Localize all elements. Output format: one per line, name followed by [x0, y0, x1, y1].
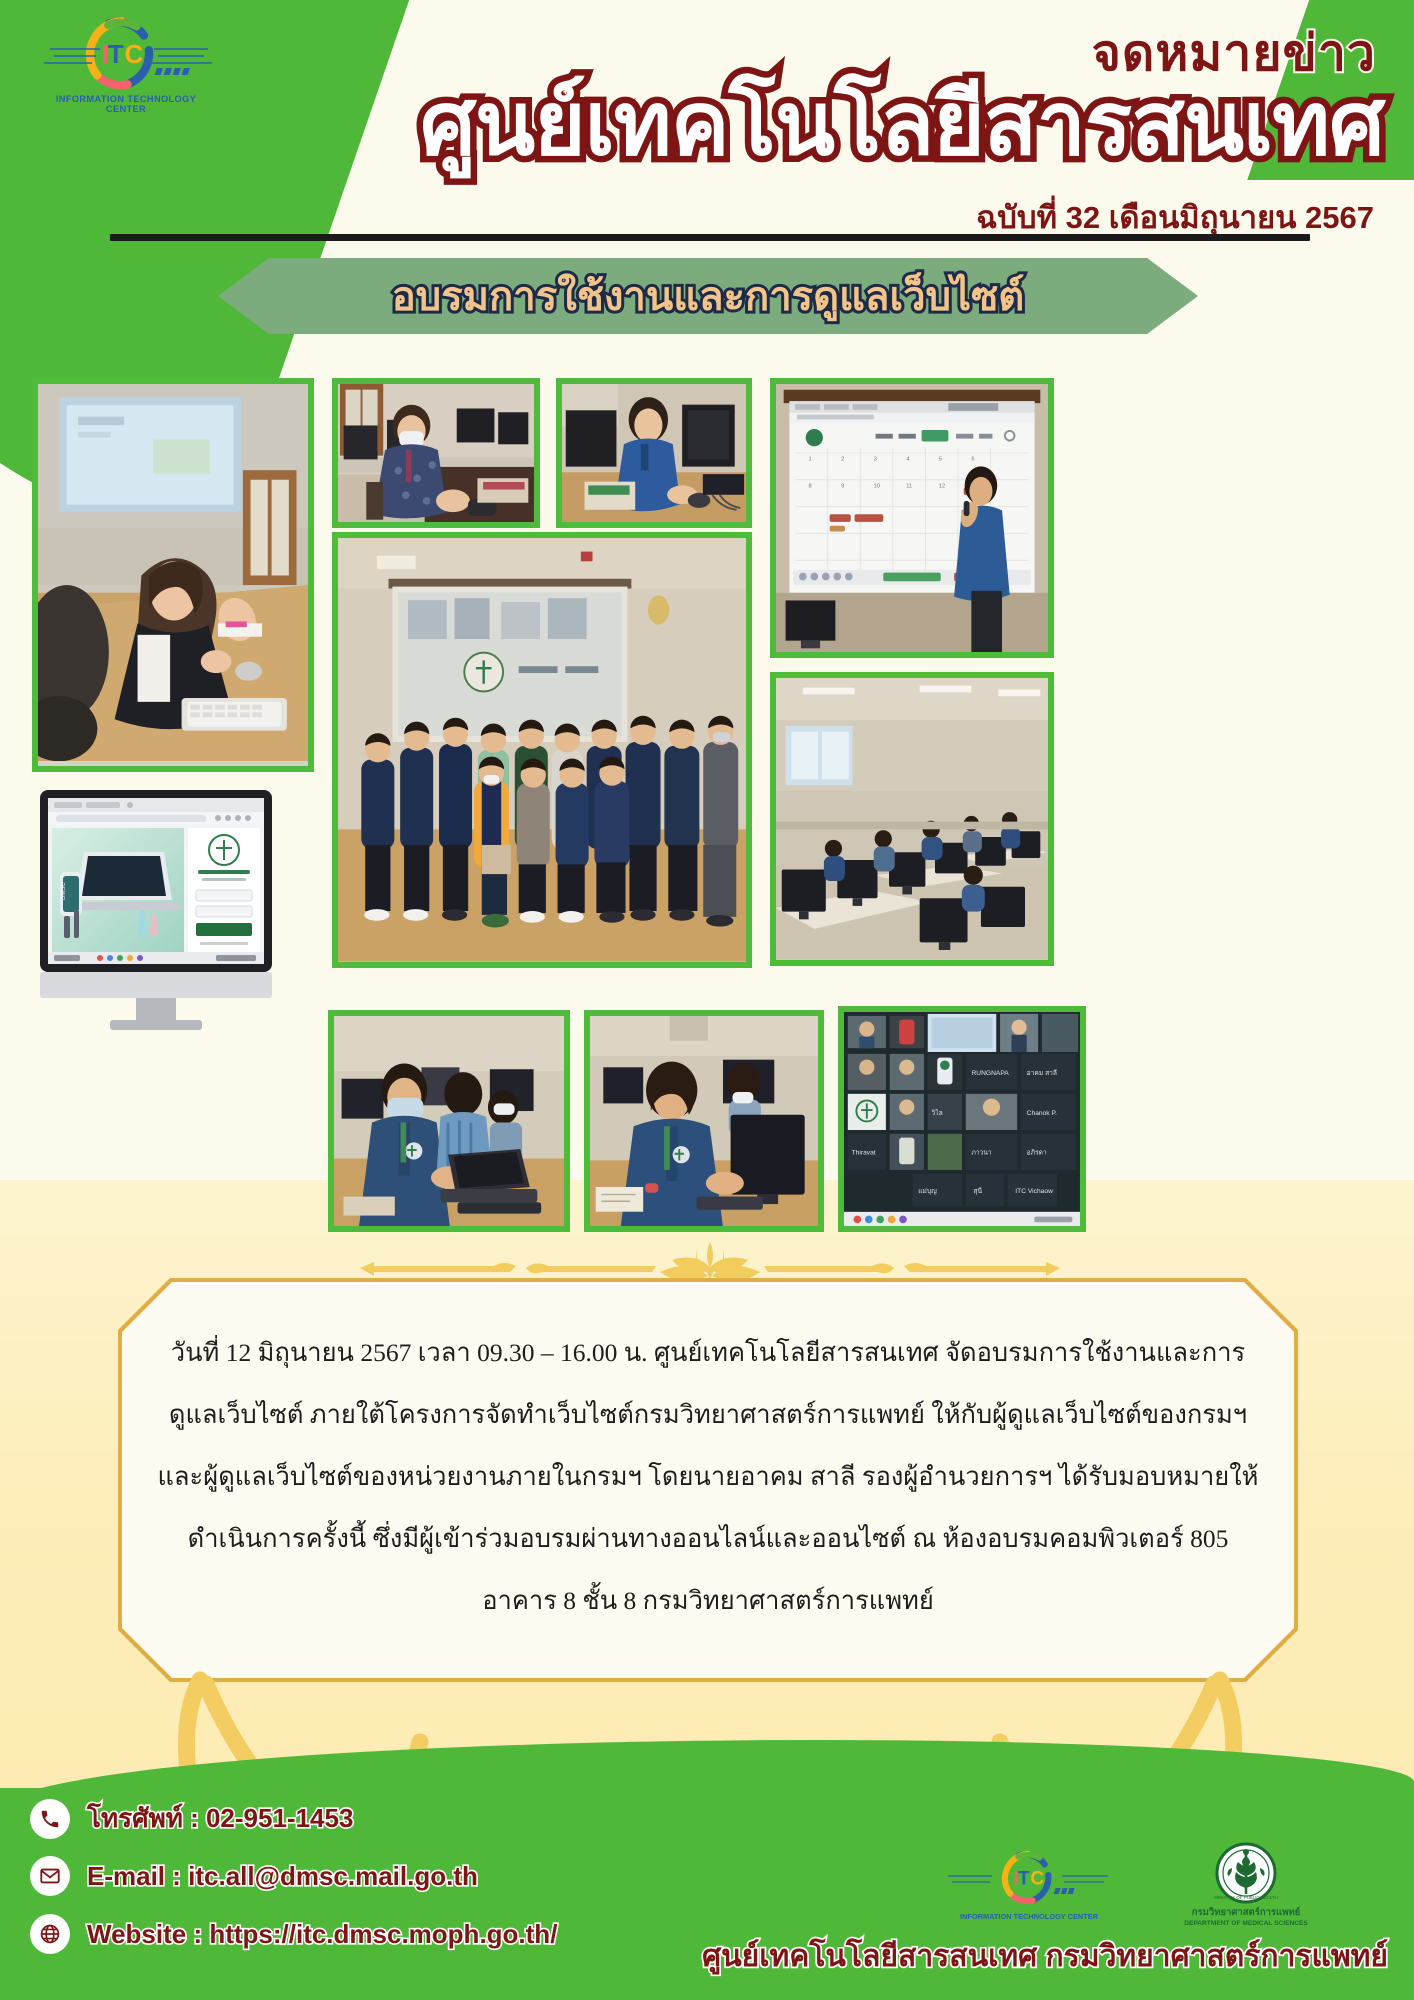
photo-speaker-screen: 123 456 8910 111213 [770, 378, 1054, 658]
svg-text:1: 1 [809, 457, 812, 463]
svg-text:RUNGNAPA: RUNGNAPA [972, 1070, 1010, 1077]
svg-text:6: 6 [971, 457, 974, 463]
itc-logo-label: INFORMATION TECHNOLOGY CENTER [36, 94, 216, 114]
photo-trainee-mask-image [338, 384, 534, 525]
photo-trainee-man-mask [328, 1010, 570, 1232]
photo-computer-room [770, 672, 1054, 966]
contact-phone-text: โทรศัพท์ : 02-951-1453 [87, 1798, 353, 1839]
footer-itc-ring-icon: I T C [944, 1850, 1114, 1914]
svg-text:MINISTRY OF PUBLIC HEALTH: MINISTRY OF PUBLIC HEALTH [1214, 1895, 1277, 1900]
svg-text:3: 3 [874, 457, 877, 463]
dmsc-emblem-icon: MINISTRY OF PUBLIC HEALTH [1206, 1842, 1286, 1904]
svg-text:T: T [1018, 1869, 1030, 1890]
globe-icon [30, 1914, 70, 1954]
svg-text:DMSC: DMSC [61, 882, 67, 900]
photo-trainee-woman-pc [584, 1010, 824, 1232]
svg-text:Chanok P.: Chanok P. [1027, 1110, 1057, 1117]
svg-text:วิไล: วิไล [931, 1109, 942, 1117]
footer-dmsc-label-en: DEPARTMENT OF MEDICAL SCIENCES [1166, 1920, 1326, 1927]
photo-presenter-woman-image [38, 384, 308, 761]
svg-text:Thiravat: Thiravat [852, 1150, 876, 1157]
itc-circuit-lines-icon [36, 40, 216, 82]
svg-text:ภาวนา: ภาวนา [972, 1150, 992, 1157]
photo-speaker-screen-image: 123 456 8910 111213 [776, 384, 1048, 652]
phone-icon [30, 1799, 70, 1839]
contact-email-text: E-mail : itc.all@dmsc.mail.go.th [87, 1861, 478, 1892]
svg-text:อภิรดา: อภิรดา [1027, 1149, 1047, 1157]
photo-trainee-mask [332, 378, 540, 528]
newsletter-poster: I T C INFORMATION TECHNOLOGY CENTER จดหม… [0, 0, 1414, 2000]
photo-presenter-woman [32, 378, 314, 772]
svg-text:แม่บุญ: แม่บุญ [918, 1188, 937, 1195]
photo-trainee-blue-image [562, 384, 746, 525]
svg-text:11: 11 [906, 483, 912, 489]
svg-text:C: C [1030, 1869, 1044, 1890]
topic-banner: อบรมการใช้งานและการดูแลเว็บไซต์ [218, 258, 1198, 334]
footer-itc-logo-label: INFORMATION TECHNOLOGY CENTER [944, 1912, 1114, 1921]
itc-logo: I T C INFORMATION TECHNOLOGY CENTER [36, 14, 216, 106]
photo-trainee-man-mask-image [334, 1016, 564, 1227]
svg-text:สุนี: สุนี [973, 1187, 982, 1195]
footer-organization-name: ศูนย์เทคโนโลยีสารสนเทศ กรมวิทยาศาสตร์การ… [702, 1933, 1388, 1980]
photo-group-photo [332, 532, 752, 968]
contact-phone[interactable]: โทรศัพท์ : 02-951-1453 [30, 1798, 353, 1839]
footer-itc-logo: I T C INFORMATION TECHNOLOGY CENTER [944, 1850, 1114, 1928]
header-divider [110, 234, 1310, 241]
newsletter-kicker: จดหมายข่าว [1092, 28, 1376, 78]
svg-text:ITC Vichaow: ITC Vichaow [1015, 1188, 1053, 1195]
svg-text:8: 8 [809, 483, 812, 489]
svg-text:12: 12 [939, 483, 945, 489]
topic-banner-label: อบรมการใช้งานและการดูแลเว็บไซต์ [392, 264, 1024, 328]
svg-text:5: 5 [939, 457, 942, 463]
footer-dmsc-label-th: กรมวิทยาศาสตร์การแพทย์ [1166, 1905, 1326, 1920]
contact-email[interactable]: E-mail : itc.all@dmsc.mail.go.th [30, 1856, 478, 1896]
footer-dmsc-logo: MINISTRY OF PUBLIC HEALTH กรมวิทยาศาสตร์… [1166, 1842, 1326, 1934]
photo-trainee-woman-pc-image [590, 1016, 818, 1227]
photo-monitor-mockup: DMSC [40, 790, 296, 1030]
contact-website[interactable]: Website : https://itc.dmsc.moph.go.th/ [30, 1914, 557, 1954]
photo-online-meeting-image: RUNGNAPA อาคม สาลี วิไล Chanok P. Thirav… [844, 1012, 1080, 1227]
photo-online-meeting: RUNGNAPA อาคม สาลี วิไล Chanok P. Thirav… [838, 1006, 1086, 1232]
contact-website-text: Website : https://itc.dmsc.moph.go.th/ [87, 1919, 557, 1950]
photo-trainee-blue [556, 378, 752, 528]
svg-text:9: 9 [841, 483, 844, 489]
lotus-ornament-icon [330, 1238, 1090, 1284]
body-paragraph: วันที่ 12 มิถุนายน 2567 เวลา 09.30 – 16.… [150, 1322, 1266, 1632]
photo-computer-room-image [776, 678, 1048, 960]
email-icon [30, 1856, 70, 1896]
page-title: ศูนย์เทคโนโลยีสารสนเทศ [420, 76, 1384, 171]
photo-monitor-mockup-image: DMSC [40, 790, 296, 1030]
svg-text:10: 10 [874, 483, 880, 489]
photo-group-photo-image [338, 538, 746, 962]
svg-text:อาคม สาลี: อาคม สาลี [1027, 1069, 1057, 1077]
svg-text:2: 2 [841, 457, 844, 463]
